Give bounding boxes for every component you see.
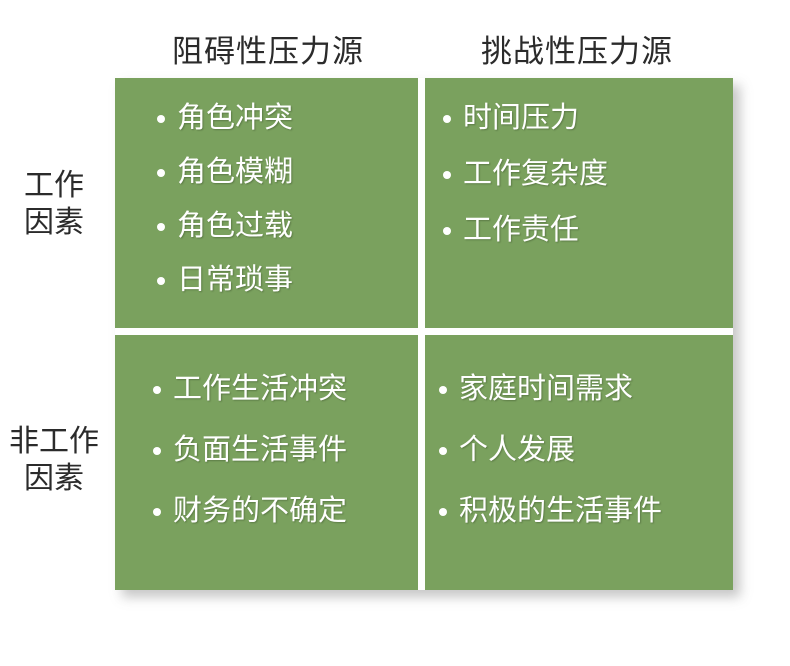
bullet-icon [443, 227, 451, 235]
column-header-challenge: 挑战性压力源 [421, 18, 733, 78]
quadrant-work-challenge-list: 时间压力 工作复杂度 工作责任 [441, 104, 723, 245]
bullet-icon [157, 169, 165, 177]
list-item: 角色冲突 [155, 104, 408, 133]
quadrant-nonwork-challenge: 家庭时间需求 个人发展 积极的生活事件 [425, 335, 733, 590]
row-label-nonwork-factors-line2: 因素 [24, 461, 84, 498]
quadrant-nonwork-hindrance: 工作生活冲突 负面生活事件 财务的不确定 [115, 335, 418, 590]
list-item-label: 角色模糊 [177, 156, 293, 188]
list-item: 工作复杂度 [441, 160, 723, 189]
bullet-icon [157, 277, 165, 285]
list-item: 角色模糊 [155, 158, 408, 187]
list-item: 时间压力 [441, 104, 723, 133]
quadrant-work-hindrance-list: 角色冲突 角色模糊 角色过载 日常琐事 [155, 104, 408, 295]
bullet-icon [439, 508, 447, 516]
horizontal-divider [115, 328, 733, 335]
list-item-label: 工作生活冲突 [173, 373, 347, 405]
column-header-hindrance: 阻碍性压力源 [115, 18, 421, 78]
list-item: 积极的生活事件 [437, 497, 723, 526]
bullet-icon [443, 171, 451, 179]
list-item: 家庭时间需求 [437, 375, 723, 404]
list-item: 负面生活事件 [151, 436, 408, 465]
quadrant-work-challenge: 时间压力 工作复杂度 工作责任 [425, 78, 733, 328]
quadrant-nonwork-challenge-list: 家庭时间需求 个人发展 积极的生活事件 [437, 361, 723, 526]
list-item-label: 角色冲突 [177, 102, 293, 134]
row-label-nonwork-factors-line1: 非工作 [9, 424, 99, 461]
list-item: 角色过载 [155, 212, 408, 241]
list-item-label: 日常琐事 [177, 264, 293, 296]
bullet-icon [157, 115, 165, 123]
row-label-work-factors-line1: 工作 [24, 168, 84, 205]
stressor-matrix-diagram: 阻碍性压力源 挑战性压力源 工作 因素 非工作 因素 角色冲突 角色模糊 角色过… [0, 0, 790, 666]
bullet-icon [439, 386, 447, 394]
list-item-label: 工作责任 [463, 214, 579, 246]
list-item-label: 角色过载 [177, 210, 293, 242]
list-item-label: 积极的生活事件 [459, 495, 662, 527]
bullet-icon [153, 386, 161, 394]
row-label-nonwork-factors: 非工作 因素 [0, 332, 108, 590]
row-label-work-factors: 工作 因素 [0, 78, 108, 332]
bullet-icon [439, 447, 447, 455]
column-header-row: 阻碍性压力源 挑战性压力源 [115, 18, 733, 78]
row-label-column: 工作 因素 非工作 因素 [0, 78, 108, 590]
list-item: 日常琐事 [155, 266, 408, 295]
row-label-work-factors-line2: 因素 [24, 205, 84, 242]
bullet-icon [153, 508, 161, 516]
list-item-label: 财务的不确定 [173, 495, 347, 527]
matrix-grid: 角色冲突 角色模糊 角色过载 日常琐事 时间压力 工作复杂度 工作责任 工作生活… [115, 78, 733, 590]
list-item: 财务的不确定 [151, 497, 408, 526]
list-item: 工作生活冲突 [151, 375, 408, 404]
bullet-icon [153, 447, 161, 455]
list-item: 工作责任 [441, 216, 723, 245]
list-item-label: 个人发展 [459, 434, 575, 466]
list-item-label: 家庭时间需求 [459, 373, 633, 405]
list-item-label: 时间压力 [463, 102, 579, 134]
list-item-label: 工作复杂度 [463, 158, 608, 190]
bullet-icon [443, 115, 451, 123]
quadrant-nonwork-hindrance-list: 工作生活冲突 负面生活事件 财务的不确定 [151, 361, 408, 526]
list-item-label: 负面生活事件 [173, 434, 347, 466]
quadrant-work-hindrance: 角色冲突 角色模糊 角色过载 日常琐事 [115, 78, 418, 328]
bullet-icon [157, 223, 165, 231]
list-item: 个人发展 [437, 436, 723, 465]
